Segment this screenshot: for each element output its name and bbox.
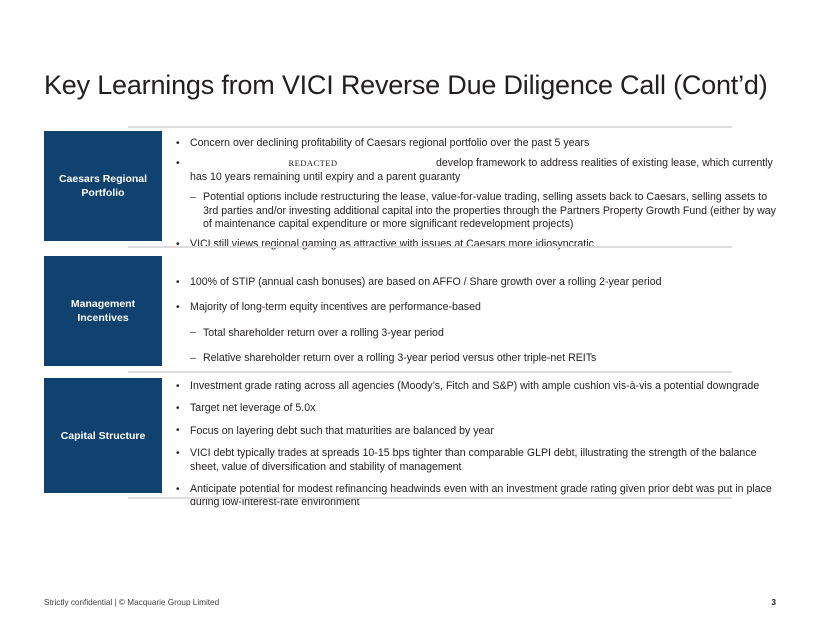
bullet-text: Majority of long-term equity incentives … (190, 301, 481, 313)
slide-footer: Strictly confidential | © Macquarie Grou… (44, 597, 776, 607)
slide-canvas: Key Learnings from VICI Reverse Due Dili… (0, 0, 820, 634)
list-item: Relative shareholder return over a rolli… (172, 352, 776, 365)
section-label-text: Management Incentives (50, 297, 156, 325)
list-item: Total shareholder return over a rolling … (172, 327, 776, 340)
section-rule-bottom-1 (128, 246, 732, 248)
section-rule-bottom-2 (128, 371, 732, 373)
page-title: Key Learnings from VICI Reverse Due Dili… (44, 68, 784, 102)
bullet-text: Total shareholder return over a rolling … (203, 327, 444, 339)
bullet-text: VICI debt typically trades at spreads 10… (190, 447, 757, 472)
section-label-management-incentives: Management Incentives (44, 256, 162, 366)
bullet-text: Potential options include restructuring … (203, 191, 776, 230)
list-item: VICI debt typically trades at spreads 10… (172, 447, 776, 474)
list-item: Investment grade rating across all agenc… (172, 380, 776, 393)
bullet-text: Anticipate potential for modest refinanc… (190, 483, 772, 508)
list-item: Target net leverage of 5.0x (172, 402, 776, 415)
bullet-list: 100% of STIP (annual cash bonuses) are b… (172, 276, 776, 366)
bullet-text: Focus on layering debt such that maturit… (190, 425, 494, 437)
section-label-caesars-regional-portfolio: Caesars Regional Portfolio (44, 131, 162, 241)
section-body-caesars-regional-portfolio: Concern over declining profitability of … (172, 131, 776, 252)
section-rule-bottom-3 (128, 497, 732, 499)
bullet-text: Concern over declining profitability of … (190, 137, 589, 149)
section-label-text: Caesars Regional Portfolio (50, 172, 156, 200)
section-label-capital-structure: Capital Structure (44, 378, 162, 493)
bullet-text: Investment grade rating across all agenc… (190, 380, 759, 392)
footer-page-number: 3 (771, 597, 776, 607)
section-label-text: Capital Structure (61, 429, 146, 443)
list-item: Majority of long-term equity incentives … (172, 301, 776, 314)
bullet-text: Target net leverage of 5.0x (190, 402, 315, 414)
bullet-text: Relative shareholder return over a rolli… (203, 352, 596, 364)
section-body-capital-structure: Investment grade rating across all agenc… (172, 378, 776, 510)
section-rule-top-1 (128, 126, 732, 128)
bullet-list: Investment grade rating across all agenc… (172, 380, 776, 510)
bullet-text: 100% of STIP (annual cash bonuses) are b… (190, 276, 662, 288)
list-item: REDACTEDdevelop framework to address rea… (172, 157, 776, 184)
list-item: 100% of STIP (annual cash bonuses) are b… (172, 276, 776, 289)
list-item: Concern over declining profitability of … (172, 137, 776, 150)
list-item: Focus on layering debt such that maturit… (172, 425, 776, 438)
section-body-management-incentives: 100% of STIP (annual cash bonuses) are b… (172, 256, 776, 366)
bullet-list: Concern over declining profitability of … (172, 137, 776, 252)
bullet-text: VICI still views regional gaming as attr… (190, 238, 594, 250)
footer-confidentiality: Strictly confidential | © Macquarie Grou… (44, 598, 219, 607)
redacted-label: REDACTED (190, 157, 436, 170)
list-item: Potential options include restructuring … (172, 191, 776, 231)
